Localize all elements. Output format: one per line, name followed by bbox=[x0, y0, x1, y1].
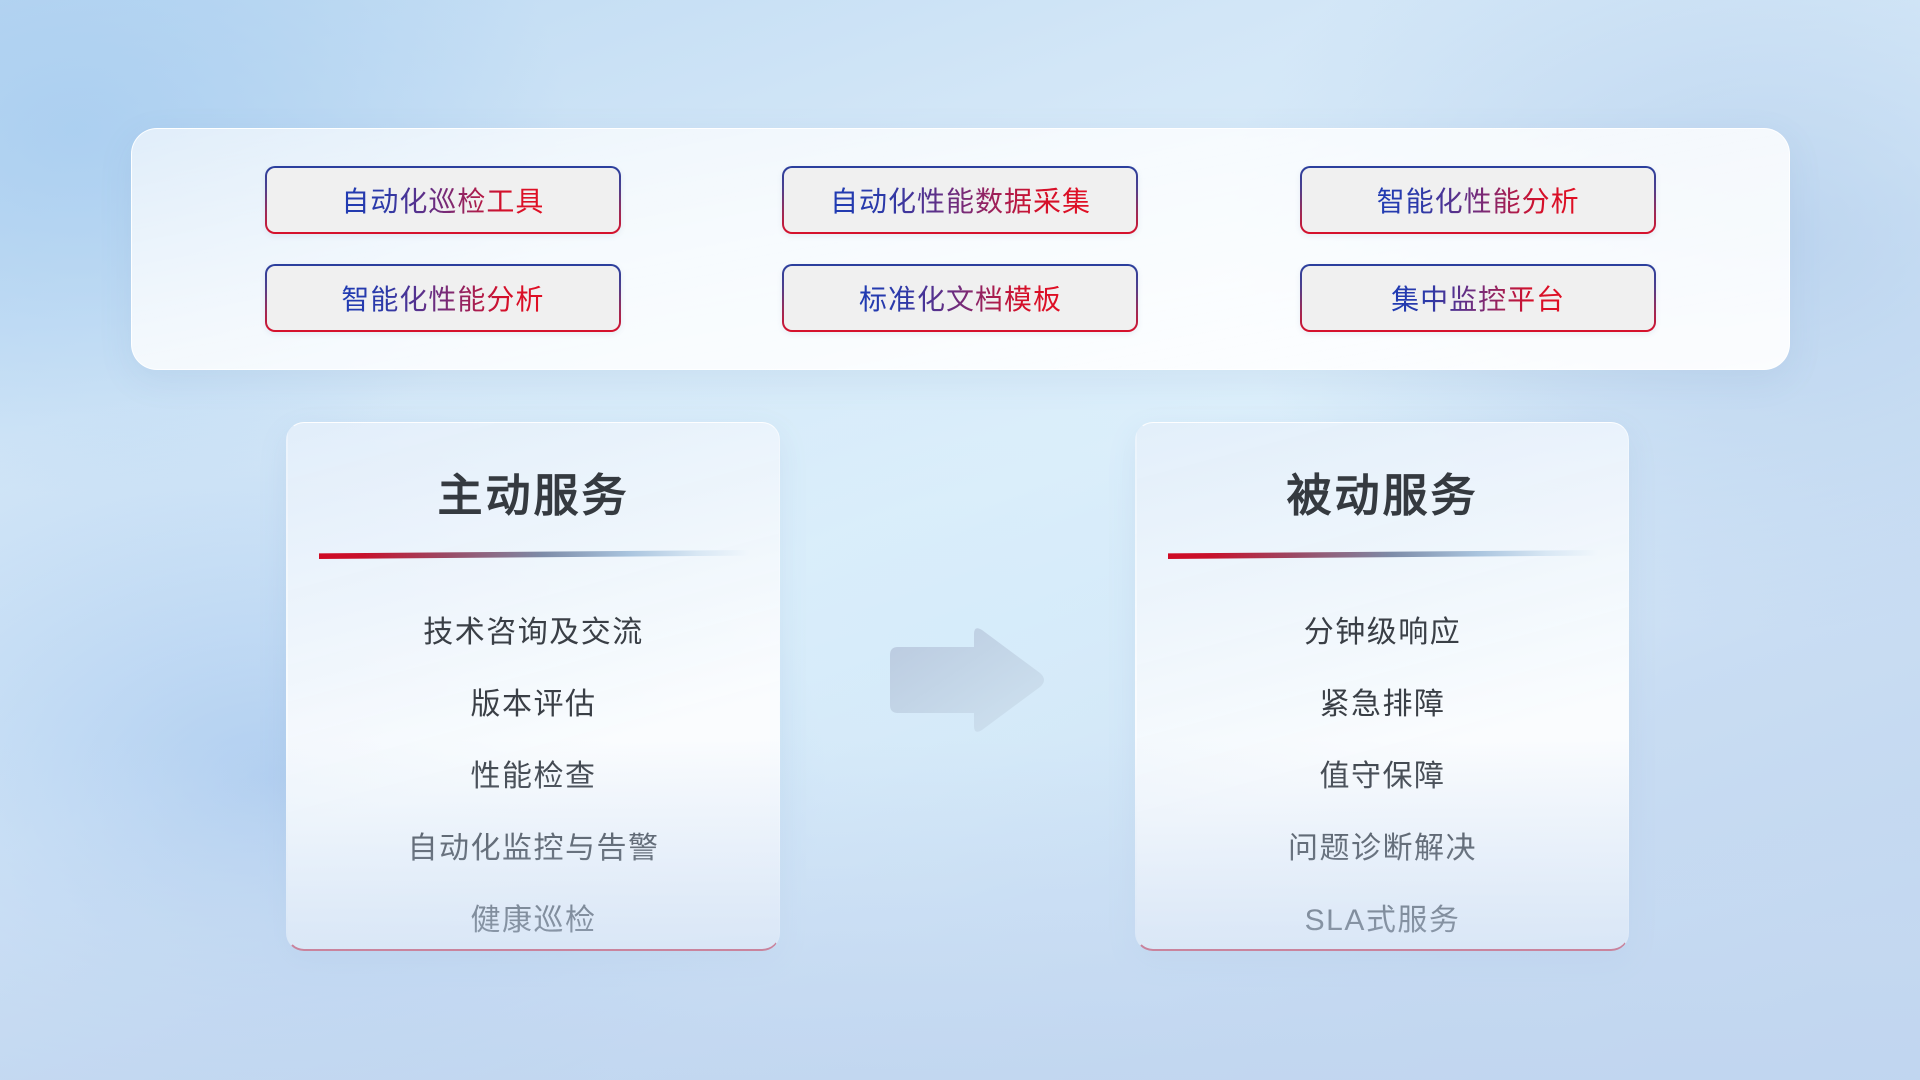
card-divider bbox=[1168, 550, 1598, 559]
card-title: 主动服务 bbox=[288, 459, 779, 524]
list-item: 健康巡检 bbox=[471, 885, 597, 951]
list-item: 自动化监控与告警 bbox=[408, 813, 660, 885]
capability-tag-5[interactable]: 标准化文档模板 bbox=[782, 264, 1138, 332]
list-item: 分钟级响应 bbox=[1304, 597, 1462, 669]
card-divider bbox=[319, 550, 749, 559]
list-item: 值守保障 bbox=[1320, 741, 1446, 813]
proactive-service-list: 技术咨询及交流 版本评估 性能检查 自动化监控与告警 健康巡检 bbox=[288, 597, 779, 951]
capability-tag-label: 智能化性能分析 bbox=[341, 278, 544, 318]
capability-tag-label: 标准化文档模板 bbox=[859, 278, 1062, 318]
list-item: 技术咨询及交流 bbox=[423, 597, 644, 669]
capability-tag-4[interactable]: 智能化性能分析 bbox=[265, 264, 621, 332]
list-item: 版本评估 bbox=[471, 669, 597, 741]
card-title: 被动服务 bbox=[1137, 459, 1628, 524]
card-divider-bar bbox=[319, 550, 749, 559]
list-item: 性能检查 bbox=[471, 741, 597, 813]
list-item: SLA式服务 bbox=[1305, 885, 1461, 951]
card-divider-bar bbox=[1168, 550, 1598, 559]
capability-tag-label: 自动化巡检工具 bbox=[341, 180, 544, 220]
capability-tag-label: 自动化性能数据采集 bbox=[830, 180, 1091, 220]
list-item: 紧急排障 bbox=[1320, 669, 1446, 741]
capability-tag-1[interactable]: 自动化巡检工具 bbox=[265, 166, 621, 234]
right-arrow-icon bbox=[880, 625, 1048, 735]
capability-tag-label: 智能化性能分析 bbox=[1377, 180, 1580, 220]
poster-canvas: 自动化巡检工具 自动化性能数据采集 智能化性能分析 智能化性能分析 标准化文档模… bbox=[0, 0, 1920, 1080]
proactive-service-card[interactable]: 主动服务 技术咨询及交流 版本评估 性能检查 自动化监控与告警 健康巡检 bbox=[286, 422, 780, 951]
reactive-service-list: 分钟级响应 紧急排障 值守保障 问题诊断解决 SLA式服务 bbox=[1137, 597, 1628, 951]
capability-tags-grid: 自动化巡检工具 自动化性能数据采集 智能化性能分析 智能化性能分析 标准化文档模… bbox=[132, 129, 1789, 369]
capability-tag-label: 集中监控平台 bbox=[1391, 278, 1565, 318]
capability-tags-panel: 自动化巡检工具 自动化性能数据采集 智能化性能分析 智能化性能分析 标准化文档模… bbox=[131, 128, 1790, 370]
list-item: 问题诊断解决 bbox=[1288, 813, 1477, 885]
reactive-service-card[interactable]: 被动服务 分钟级响应 紧急排障 值守保障 问题诊断解决 SLA式服务 bbox=[1135, 422, 1629, 951]
capability-tag-2[interactable]: 自动化性能数据采集 bbox=[782, 166, 1138, 234]
capability-tag-6[interactable]: 集中监控平台 bbox=[1300, 264, 1656, 332]
capability-tag-3[interactable]: 智能化性能分析 bbox=[1300, 166, 1656, 234]
